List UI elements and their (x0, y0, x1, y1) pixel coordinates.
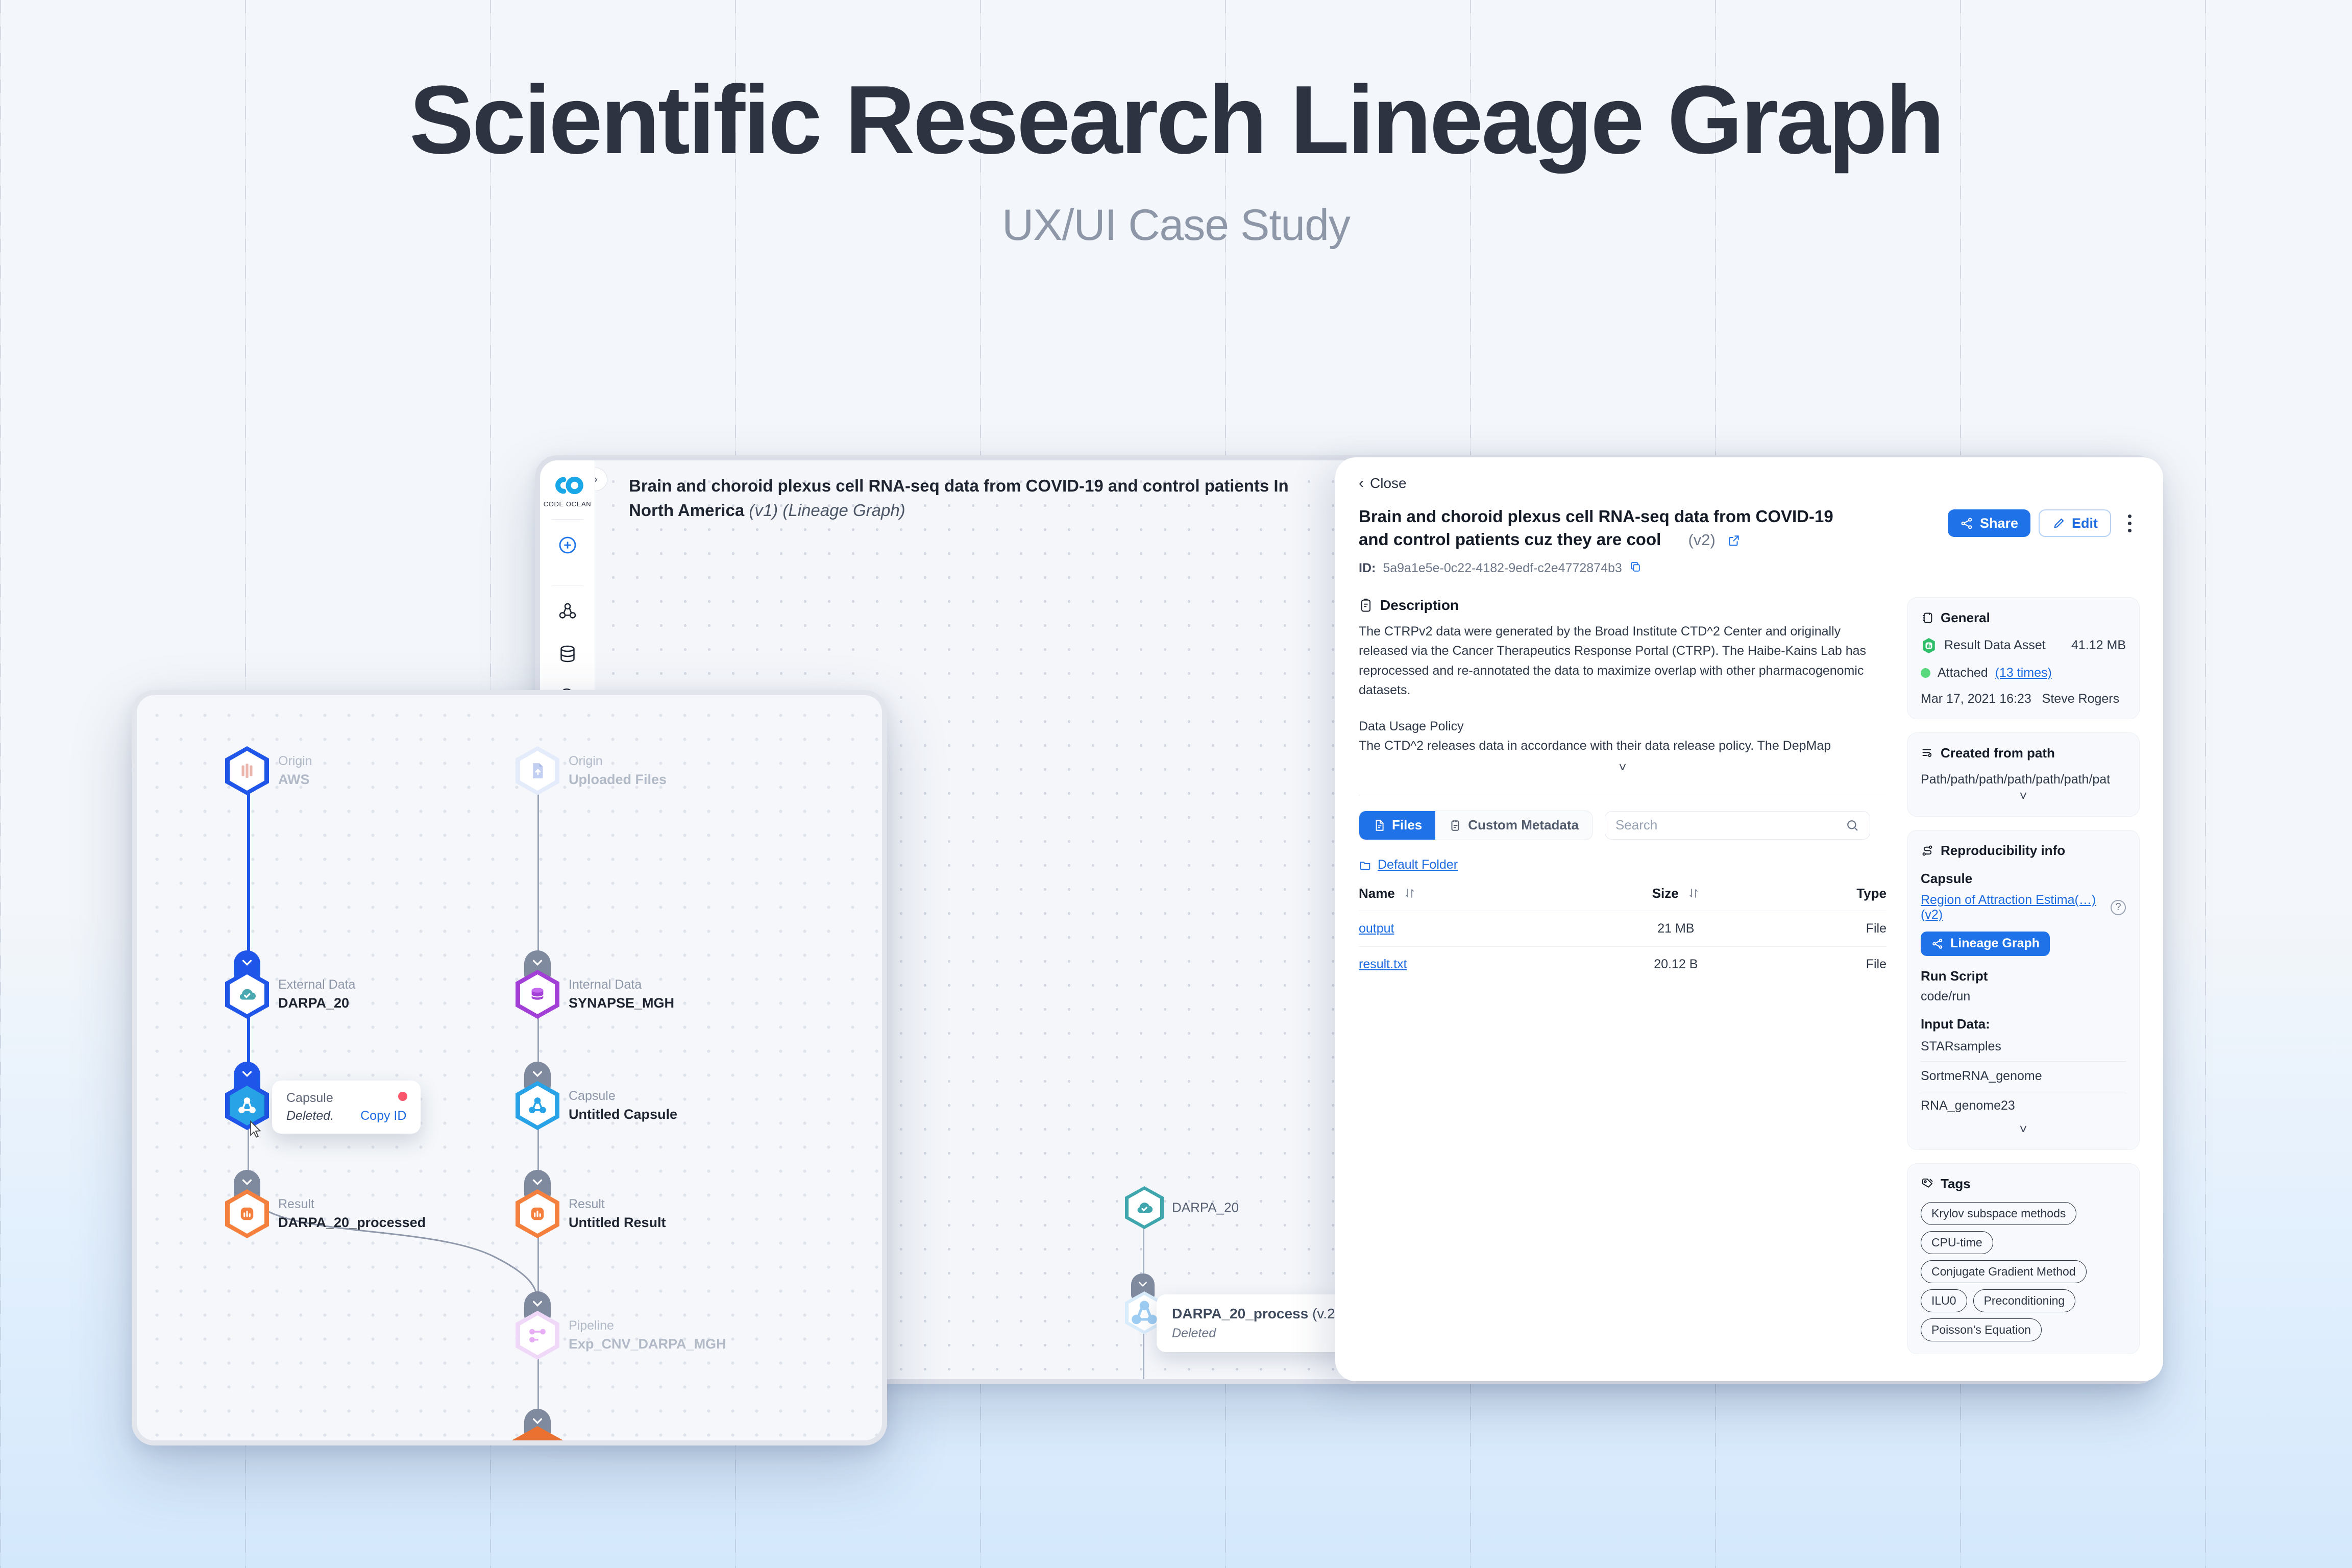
general-icon (1921, 611, 1934, 625)
graph-node-label: DARPA_20 (1172, 1200, 1239, 1216)
folder-icon (1359, 859, 1371, 871)
graph-node-external-data[interactable]: External Data DARPA_20 (225, 970, 269, 1019)
file-link[interactable]: output (1359, 921, 1394, 936)
graph-node-capsule-untitled[interactable]: Capsule Untitled Capsule (516, 1081, 559, 1130)
node-kind: Origin (278, 753, 312, 770)
chevron-left-icon: ‹ (1359, 475, 1364, 492)
input-data-label: Input Data: (1921, 1016, 2126, 1032)
general-card: General Result Data Asset 41.12 MB Attac… (1907, 597, 2140, 719)
reproducibility-heading: Reproducibility info (1921, 843, 2126, 859)
detail-title: Brain and choroid plexus cell RNA-seq da… (1359, 505, 1849, 551)
column-type: Type (1769, 886, 1886, 911)
detail-id-value: 5a9a1e5e-0c22-4182-9edf-c2e4772874b3 (1383, 561, 1622, 576)
detail-id-label: ID: (1359, 561, 1376, 576)
run-script-value: code/run (1921, 989, 2126, 1004)
node-name: SYNAPSE_MGH (569, 994, 674, 1012)
capsule-link-row: Region of Attraction Estima(…)(v2) ? (1921, 893, 2126, 922)
capsule-tooltip: Capsule Deleted. Copy ID (272, 1081, 421, 1134)
aws-icon (236, 760, 258, 781)
general-heading: General (1921, 610, 2126, 626)
graph-node-origin-aws[interactable]: Origin AWS (225, 746, 269, 795)
general-heading-text: General (1941, 610, 1990, 626)
file-icon (1373, 819, 1386, 832)
graph-node-result-untitled-2[interactable]: Result Untitled Result (509, 1426, 566, 1440)
capsule-icon (1129, 1297, 1160, 1329)
reproducibility-icon (1921, 844, 1934, 857)
graph-node-result-darpa[interactable]: Result DARPA_20_processed (225, 1189, 269, 1238)
node-name: DARPA_20_processed (278, 1213, 426, 1232)
created-from-path-heading-text: Created from path (1941, 745, 2055, 761)
reproducibility-heading-text: Reproducibility info (1941, 843, 2065, 859)
app-page-title: Brain and choroid plexus cell RNA-seq da… (629, 474, 1292, 522)
node-kind: Pipeline (569, 1317, 726, 1335)
status-badge: Attached (1938, 666, 1988, 680)
created-author: Steve Rogers (2042, 692, 2119, 706)
metadata-icon (1449, 819, 1462, 832)
tags-heading: Tags (1921, 1176, 2126, 1192)
tag-item[interactable]: Conjugate Gradient Method (1921, 1260, 2087, 1283)
node-kind: Result (575, 1439, 672, 1440)
tag-item[interactable]: Poisson's Equation (1921, 1318, 2042, 1341)
tag-item[interactable]: Krylov subspace methods (1921, 1202, 2076, 1225)
node-kind: External Data (278, 976, 355, 994)
app-page-title-suffix: (Lineage Graph) (782, 501, 905, 520)
mouse-cursor-icon (247, 1120, 264, 1140)
graph-node-pipeline[interactable]: Pipeline Exp_CNV_DARPA_MGH (516, 1311, 559, 1360)
sort-icon[interactable] (1687, 886, 1700, 901)
app-page-title-text: Brain and choroid plexus cell RNA-seq da… (629, 476, 1289, 520)
reproducibility-card: Reproducibility info Capsule Region of A… (1907, 830, 2140, 1150)
node-kind: Result (278, 1196, 426, 1213)
description-icon (1359, 598, 1373, 613)
node-name: Untitled Capsule (569, 1105, 677, 1123)
share-label: Share (1980, 516, 2018, 531)
tooltip-status: Deleted. (286, 1109, 334, 1123)
node-name: DARPA_20 (278, 994, 355, 1012)
node-label-external-data: External Data DARPA_20 (278, 976, 355, 1012)
status-dot-icon (1921, 668, 1930, 678)
tags-card: Tags Krylov subspace methods CPU-time Co… (1907, 1163, 2140, 1354)
tooltip-kind: Capsule (286, 1091, 406, 1106)
close-button[interactable]: ‹ Close (1359, 475, 2140, 492)
database-icon (527, 984, 548, 1005)
column-size[interactable]: Size (1583, 886, 1769, 911)
column-name-label: Name (1359, 886, 1395, 901)
policy-heading: Data Usage Policy (1359, 717, 1886, 737)
result-icon (527, 1203, 548, 1224)
cloud-check-icon (1134, 1197, 1155, 1218)
lineage-graph-icon (1931, 937, 1944, 950)
detail-version: (v2) (1688, 529, 1715, 551)
node-name: Uploaded Files (569, 770, 667, 789)
description-heading: Description (1359, 597, 1886, 614)
tab-files[interactable]: Files (1359, 811, 1435, 840)
search-input[interactable] (1615, 817, 1845, 833)
search-icon (1845, 818, 1859, 832)
page-subtitle: UX/UI Case Study (0, 200, 2352, 251)
detail-id: ID: 5a9a1e5e-0c22-4182-9edf-c2e4772874b3 (1359, 560, 2140, 577)
general-meta: Mar 17, 2021 16:23 Steve Rogers (1921, 692, 2126, 706)
lineage-graph-label: Lineage Graph (1950, 936, 2040, 951)
policy-text: The CTD^2 releases data in accordance wi… (1359, 736, 1886, 756)
node-kind: Capsule (569, 1088, 677, 1105)
cell-size: 20.12 B (1583, 946, 1769, 982)
copy-icon[interactable] (1629, 560, 1642, 577)
capsule-label: Capsule (1921, 871, 2126, 887)
default-folder-label: Default Folder (1378, 857, 1458, 872)
tag-item[interactable]: ILU0 (1921, 1289, 1967, 1312)
graph-node-external-data[interactable]: DARPA_20 (1125, 1186, 1164, 1229)
description-paragraph: The CTRPv2 data were generated by the Br… (1359, 622, 1886, 700)
files-tab-row: Files Custom Metadata (1359, 811, 1886, 840)
app-page-title-version: (v1) (749, 501, 778, 520)
cell-name[interactable]: output (1359, 911, 1583, 946)
node-label-pipeline: Pipeline Exp_CNV_DARPA_MGH (569, 1317, 726, 1353)
cell-name[interactable]: result.txt (1359, 946, 1583, 982)
asset-size: 41.12 MB (2071, 638, 2126, 653)
node-kind: Result (569, 1196, 666, 1213)
share-button[interactable]: Share (1948, 509, 2030, 537)
copy-id-button[interactable]: Copy ID (360, 1109, 406, 1123)
node-label-result-untitled-1: Result Untitled Result (569, 1196, 666, 1232)
graph-node-internal-data[interactable]: Internal Data SYNAPSE_MGH (516, 970, 559, 1019)
run-script-label: Run Script (1921, 968, 2126, 984)
open-external-icon[interactable] (1727, 528, 1741, 551)
tag-icon (1921, 1177, 1934, 1191)
pencil-icon (2052, 517, 2066, 530)
node-name: Exp_CNV_DARPA_MGH (569, 1335, 726, 1353)
more-options-icon[interactable] (2119, 509, 2140, 537)
node-label-result-darpa: Result DARPA_20_processed (278, 1196, 426, 1232)
result-data-asset-icon (1921, 637, 1937, 654)
tags-list: Krylov subspace methods CPU-time Conjuga… (1921, 1202, 2126, 1341)
node-label-result-untitled-2: Result Untitled Result (575, 1439, 672, 1440)
node-label-internal-data: Internal Data SYNAPSE_MGH (569, 976, 674, 1012)
tab-custom-metadata-label: Custom Metadata (1468, 817, 1579, 833)
capsule-icon (236, 1095, 258, 1116)
upload-file-icon (527, 760, 548, 781)
brand-name: CODE OCEAN (544, 500, 591, 508)
tag-item[interactable]: CPU-time (1921, 1231, 1993, 1254)
capsule-link[interactable]: Region of Attraction Estima(…)(v2) (1921, 893, 2103, 922)
status-row: Attached (13 times) (1921, 666, 2126, 680)
node-label-capsule-untitled: Capsule Untitled Capsule (569, 1088, 677, 1123)
edit-button[interactable]: Edit (2039, 509, 2111, 537)
input-data-item: RNA_genome23 (1921, 1091, 2126, 1120)
tags-heading-text: Tags (1941, 1176, 1971, 1192)
graph-node-result-untitled-1[interactable]: Result Untitled Result (516, 1189, 559, 1238)
graph-node-origin-uploaded[interactable]: Origin Uploaded Files (516, 746, 559, 795)
file-link[interactable]: result.txt (1359, 957, 1407, 971)
edit-label: Edit (2072, 516, 2098, 531)
attached-times-link[interactable]: (13 times) (1995, 666, 2052, 680)
files-search[interactable] (1605, 811, 1870, 840)
node-name: Untitled Result (569, 1213, 666, 1232)
detail-title-text: Brain and choroid plexus cell RNA-seq da… (1359, 507, 1833, 549)
created-from-path-heading: Created from path (1921, 745, 2126, 761)
input-data-item: STARsamples (1921, 1032, 2126, 1062)
asset-type-row: Result Data Asset 41.12 MB (1921, 637, 2126, 654)
capsule-icon (527, 1095, 548, 1116)
hero: Scientific Research Lineage Graph UX/UI … (0, 71, 2352, 251)
input-data-item: SortmeRNA_genome (1921, 1062, 2126, 1091)
tag-item[interactable]: Preconditioning (1973, 1289, 2076, 1312)
share-icon (1960, 517, 1974, 530)
files-table: Name Size Type (1359, 886, 1886, 982)
created-from-path-card: Created from path Path/path/path/path/pa… (1907, 732, 2140, 817)
expand-input-data-icon[interactable]: ˅ (1921, 1121, 2126, 1137)
tab-files-label: Files (1392, 817, 1422, 833)
node-name: AWS (278, 770, 312, 789)
created-date: Mar 17, 2021 16:23 (1921, 692, 2031, 706)
table-row[interactable]: output 21 MB File (1359, 911, 1886, 946)
expand-path-icon[interactable]: ˅ (1921, 788, 2126, 804)
close-label: Close (1370, 475, 1407, 492)
capsule-icon[interactable] (553, 597, 582, 625)
node-kind: Origin (569, 753, 667, 770)
table-row[interactable]: result.txt 20.12 B File (1359, 946, 1886, 982)
node-kind: Internal Data (569, 976, 674, 994)
help-icon[interactable]: ? (2111, 900, 2126, 915)
description-body: The CTRPv2 data were generated by the Br… (1359, 622, 1886, 777)
asset-type-label: Result Data Asset (1944, 638, 2046, 653)
page-title: Scientific Research Lineage Graph (0, 71, 2352, 168)
path-icon (1921, 746, 1934, 760)
created-from-path-value: Path/path/path/path/path/path/pat (1921, 772, 2126, 787)
lineage-graph-button[interactable]: Lineage Graph (1921, 932, 2050, 956)
pipeline-icon (527, 1325, 548, 1346)
sort-icon[interactable] (1404, 886, 1416, 901)
tooltip-name: DARPA_20_process (1172, 1306, 1308, 1321)
node-label-origin-aws: Origin AWS (278, 753, 312, 789)
add-icon[interactable] (553, 531, 582, 559)
result-icon (236, 1203, 258, 1224)
detail-panel: ‹ Close Brain and choroid plexus cell RN… (1335, 457, 2163, 1381)
code-ocean-logo-icon (548, 472, 587, 499)
expand-description-icon[interactable]: ˅ (1359, 757, 1886, 777)
tab-custom-metadata[interactable]: Custom Metadata (1435, 811, 1592, 840)
cell-type: File (1769, 911, 1886, 946)
default-folder-link[interactable]: Default Folder (1359, 857, 1886, 872)
description-heading-text: Description (1380, 597, 1459, 614)
column-name[interactable]: Name (1359, 886, 1583, 911)
cell-size: 21 MB (1583, 911, 1769, 946)
database-icon[interactable] (553, 640, 582, 668)
node-label-origin-uploaded: Origin Uploaded Files (569, 753, 667, 789)
cloud-check-icon (236, 984, 258, 1005)
cell-type: File (1769, 946, 1886, 982)
column-size-label: Size (1652, 886, 1679, 901)
floating-lineage-panel: Origin AWS External Data DARPA_20 (132, 690, 887, 1445)
